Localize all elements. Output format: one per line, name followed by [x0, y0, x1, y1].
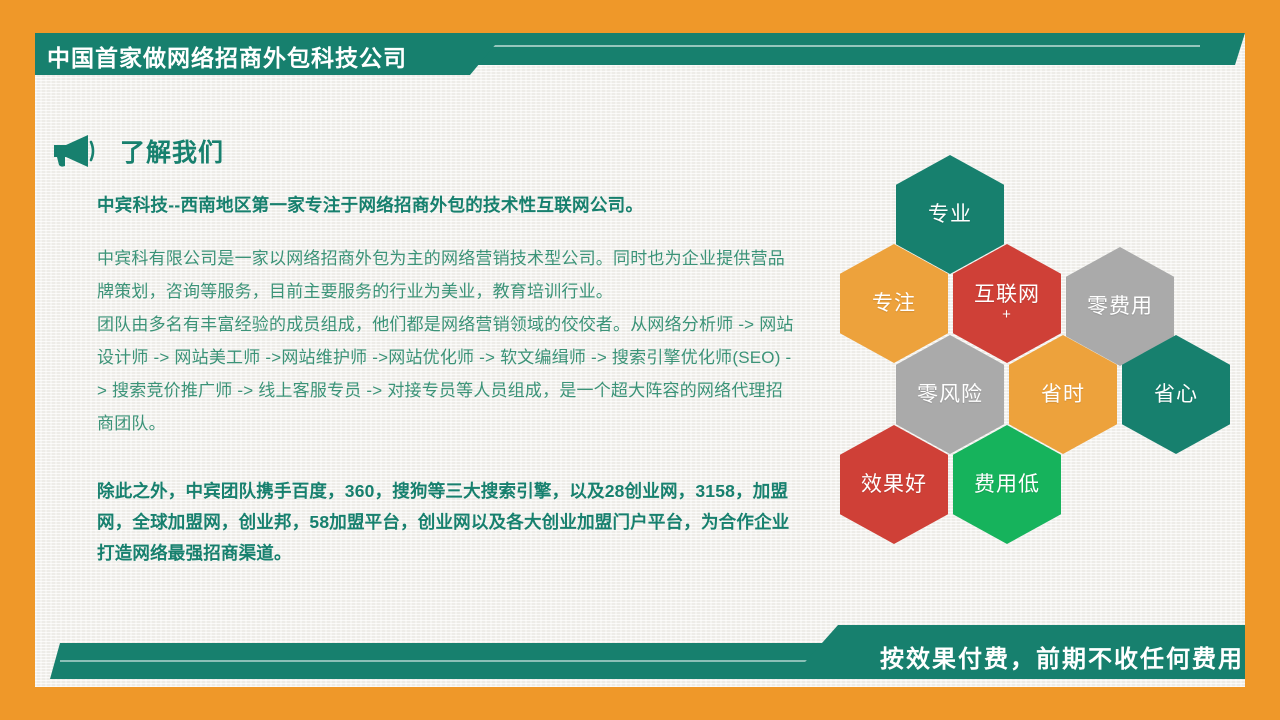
- footer-accent-line: [60, 660, 905, 662]
- slide-header: 中国首家做网络招商外包科技公司: [35, 33, 1245, 75]
- header-title-block: 中国首家做网络招商外包科技公司: [35, 33, 505, 75]
- megaphone-icon: [50, 134, 96, 168]
- slide-footer: 按效果付费，前期不收任何费用: [35, 612, 1245, 687]
- hex-label-3: 零费用: [1087, 295, 1153, 319]
- section-heading: 了解我们: [50, 133, 224, 169]
- hex-label-1: 专注: [872, 292, 916, 316]
- hex-label-6: 省心: [1154, 383, 1198, 407]
- hex-label-5: 省时: [1041, 383, 1085, 407]
- slide-canvas: 中国首家做网络招商外包科技公司 了解我们 中宾科技--西南地区第一家专注于网络招…: [0, 0, 1280, 720]
- hexagon-cluster: 专业 专注 互联网+ 零费用 零风险 省时 省心 效果好 费用低: [830, 155, 1230, 545]
- body-content: 中宾科技--西南地区第一家专注于网络招商外包的技术性互联网公司。 中宾科有限公司…: [97, 192, 797, 569]
- hex-label-7: 效果好: [861, 473, 927, 497]
- section-title: 了解我们: [120, 133, 224, 169]
- hex-sub-2: +: [974, 307, 1040, 324]
- paragraph-2: 团队由多名有丰富经验的成员组成，他们都是网络营销领域的佼佼者。从网络分析师 ->…: [97, 308, 797, 440]
- hex-label-8: 费用低: [974, 473, 1040, 497]
- footer-tagline: 按效果付费，前期不收任何费用: [880, 639, 1244, 674]
- hex-label-4: 零风险: [917, 383, 983, 407]
- hex-label-0: 专业: [928, 203, 972, 227]
- lead-statement: 中宾科技--西南地区第一家专注于网络招商外包的技术性互联网公司。: [97, 192, 797, 218]
- paragraph-1: 中宾科有限公司是一家以网络招商外包为主的网络营销技术型公司。同时也为企业提供营品…: [97, 242, 797, 308]
- hex-label-2: 互联网: [974, 283, 1040, 307]
- closing-statement: 除此之外，中宾团队携手百度，360，搜狗等三大搜索引擎，以及28创业网，3158…: [97, 476, 797, 569]
- page-title: 中国首家做网络招商外包科技公司: [47, 39, 407, 73]
